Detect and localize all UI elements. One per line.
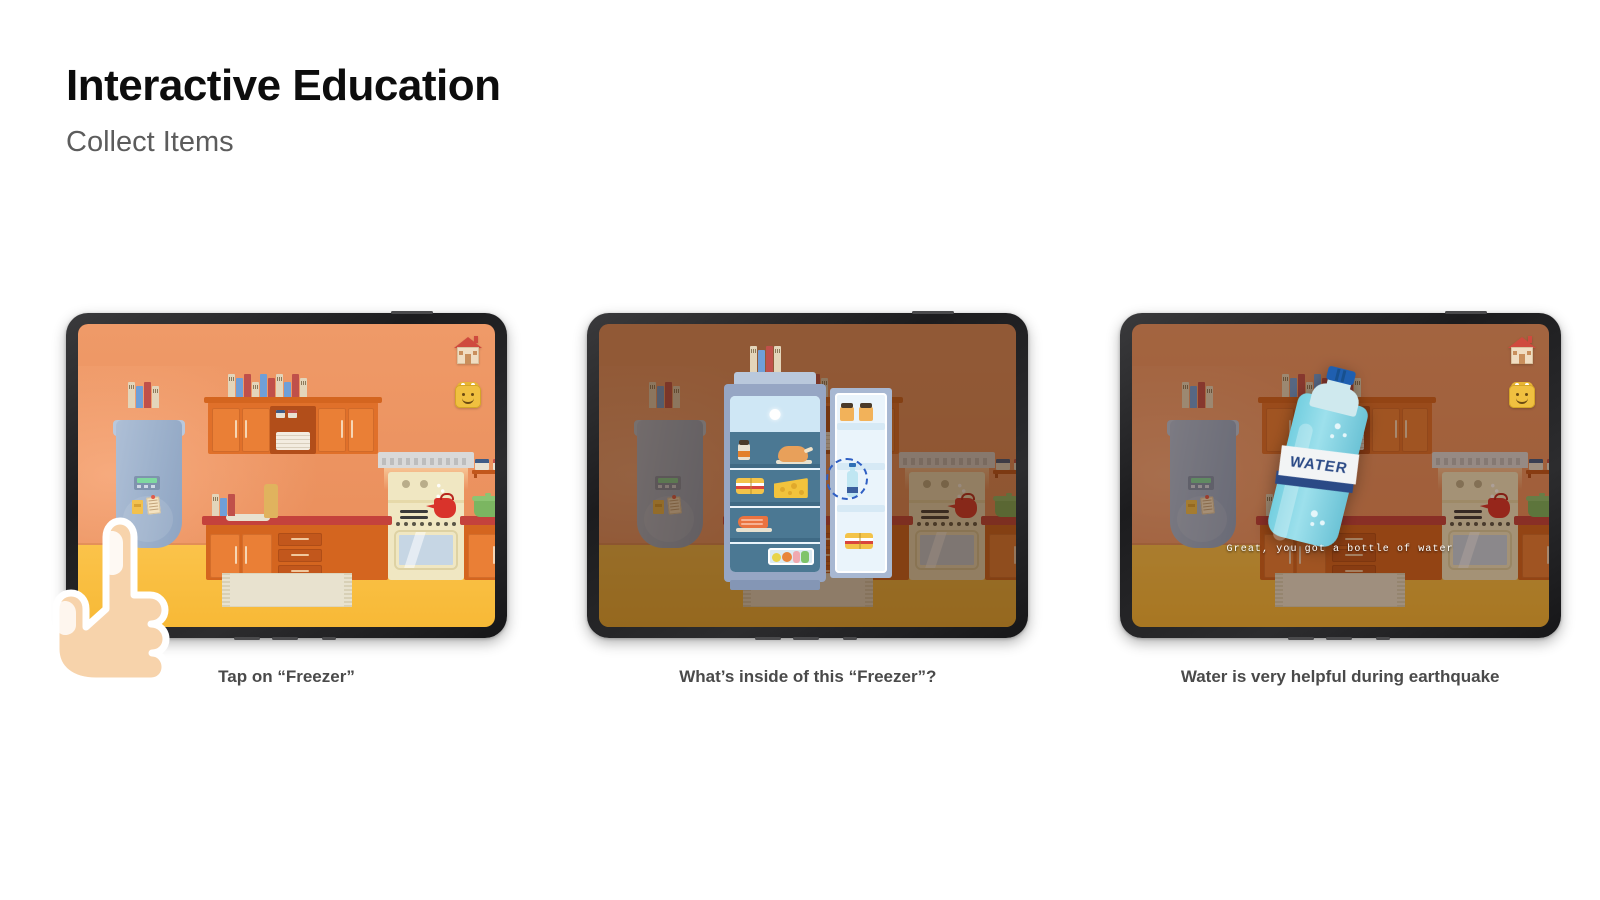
right-counter <box>464 524 495 580</box>
door-rack-1 <box>837 423 885 430</box>
salmon-plate <box>736 528 772 532</box>
tablet-volume-down-button[interactable] <box>1326 637 1352 640</box>
roast-chicken[interactable] <box>778 446 808 462</box>
freezer-interior <box>730 396 820 572</box>
green-pot <box>474 500 495 517</box>
tablet-device-3: WATER Great, you got a bottle of water <box>1120 313 1561 638</box>
freezer-top-boxes <box>750 346 781 372</box>
pointing-hand-icon <box>24 503 204 703</box>
tablet-power-button[interactable] <box>1445 311 1487 314</box>
page-subtitle: Collect Items <box>66 127 501 159</box>
hud-icons <box>453 336 483 410</box>
highlight-ring <box>826 458 868 500</box>
bread-loaf <box>264 484 278 518</box>
salmon-item[interactable] <box>738 516 768 528</box>
house-icon[interactable] <box>1507 336 1537 366</box>
game-caption: Great, you got a bottle of water <box>1132 544 1549 555</box>
page-title: Interactive Education <box>66 62 501 110</box>
open-freezer <box>724 372 892 590</box>
panel-water-collected: WATER Great, you got a bottle of water W… <box>1120 313 1600 687</box>
tablet-volume-down-button[interactable] <box>793 637 819 640</box>
tablet-port <box>1376 637 1390 640</box>
kitchen-scene-2 <box>599 324 1016 627</box>
upper-cabinets <box>208 402 378 454</box>
left-counter-boxes <box>212 494 235 516</box>
range-hood <box>378 452 474 468</box>
tablet-power-button[interactable] <box>912 311 954 314</box>
door-sandwich[interactable] <box>845 533 873 549</box>
hud-icons <box>1507 336 1537 410</box>
tablet-device-2 <box>587 313 1028 638</box>
open-shelf-plates <box>270 406 316 454</box>
jam-jar[interactable] <box>738 444 750 460</box>
freezer-light <box>769 409 780 420</box>
slide-header: Interactive Education Collect Items <box>66 62 501 159</box>
tablet-screen-2[interactable] <box>599 324 1016 627</box>
kitchen-scene-3: WATER Great, you got a bottle of water <box>1132 324 1549 627</box>
kettle <box>434 498 456 518</box>
tablet-port <box>322 637 336 640</box>
floor-rug <box>222 573 352 607</box>
panel-tap-freezer: Tap on “Freezer” <box>66 313 546 687</box>
tablet-screen-3[interactable]: WATER Great, you got a bottle of water <box>1132 324 1549 627</box>
bottle-label-text: WATER <box>1288 453 1349 477</box>
panel-row: Tap on “Freezer” <box>0 313 1600 687</box>
vegetable-tray[interactable] <box>768 548 814 565</box>
sandwich-item[interactable] <box>736 478 764 494</box>
slide-root: Interactive Education Collect Items <box>0 0 1600 900</box>
tablet-volume-up-button[interactable] <box>1288 637 1314 640</box>
tablet-volume-down-button[interactable] <box>272 637 298 640</box>
panel-freezer-contents: What’s inside of this “Freezer”? <box>587 313 1067 687</box>
wall-shelf-left <box>472 470 495 474</box>
door-jar-1[interactable] <box>840 407 854 421</box>
door-jar-2[interactable] <box>859 407 873 421</box>
tablet-port <box>843 637 857 640</box>
tablet-power-button[interactable] <box>391 311 433 314</box>
backpack-icon[interactable] <box>1507 380 1537 410</box>
door-rack-3 <box>837 505 885 512</box>
panel-caption: What’s inside of this “Freezer”? <box>587 667 1028 687</box>
house-icon[interactable] <box>453 336 483 366</box>
freezer-cabinet <box>724 384 826 582</box>
tablet-volume-up-button[interactable] <box>234 637 260 640</box>
left-counter <box>206 524 388 580</box>
freezer-top-compartment <box>730 396 820 432</box>
freezer-door[interactable] <box>830 388 892 578</box>
backpack-icon[interactable] <box>453 380 483 410</box>
panel-caption: Water is very helpful during earthquake <box>1120 667 1561 687</box>
tablet-volume-up-button[interactable] <box>755 637 781 640</box>
stove <box>388 472 464 580</box>
fridge-control-panel <box>134 476 160 490</box>
